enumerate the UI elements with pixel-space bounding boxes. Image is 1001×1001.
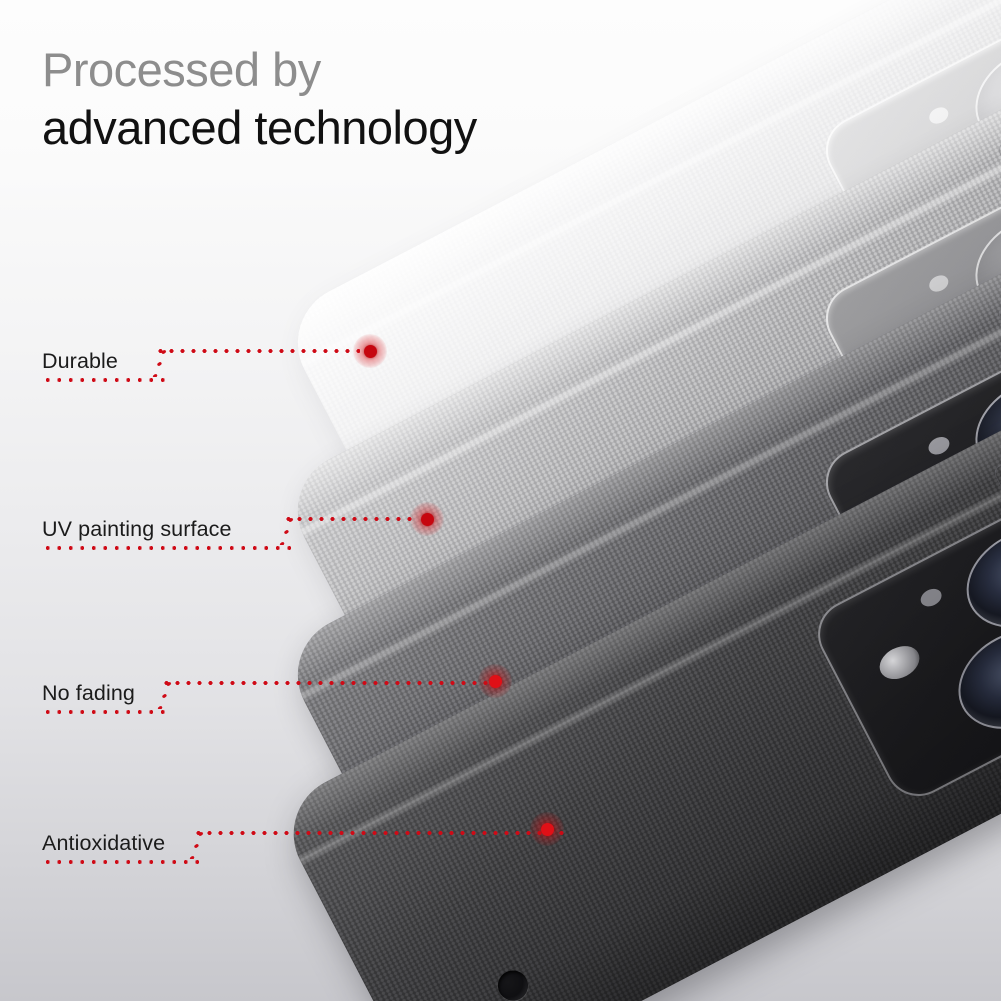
callout-underline-no-fading xyxy=(42,710,170,714)
headline-block: Processed by advanced technology xyxy=(42,46,477,151)
sensor-dot xyxy=(926,104,951,127)
callout-marker-uv xyxy=(410,502,444,536)
sensor-dot xyxy=(926,272,951,295)
callout-label-uv: UV painting surface xyxy=(42,517,232,542)
headline-line-2: advanced technology xyxy=(42,104,477,151)
flash-dot xyxy=(874,640,925,686)
callout-label-durable: Durable xyxy=(42,349,118,374)
callout-marker-no-fading xyxy=(478,664,512,698)
callout-underline-uv xyxy=(42,546,292,550)
sensor-dot xyxy=(926,434,953,458)
callout-underline-antioxidative xyxy=(42,860,202,864)
callout-leader-uv xyxy=(283,517,418,521)
infographic-canvas: NILLKIN NILLKIN xyxy=(0,0,1001,1001)
callout-marker-antioxidative xyxy=(530,812,564,846)
callout-leader-no-fading xyxy=(161,681,491,685)
callout-label-no-fading: No fading xyxy=(42,681,135,706)
sensor-dot xyxy=(918,585,945,609)
callout-underline-durable xyxy=(42,378,165,382)
callout-marker-durable xyxy=(353,334,387,368)
callout-leader-antioxidative xyxy=(193,831,568,835)
callout-leader-durable xyxy=(155,349,360,353)
headline-line-1: Processed by xyxy=(42,46,477,93)
callout-label-antioxidative: Antioxidative xyxy=(42,831,165,856)
lens-ring-2 xyxy=(941,610,1001,749)
